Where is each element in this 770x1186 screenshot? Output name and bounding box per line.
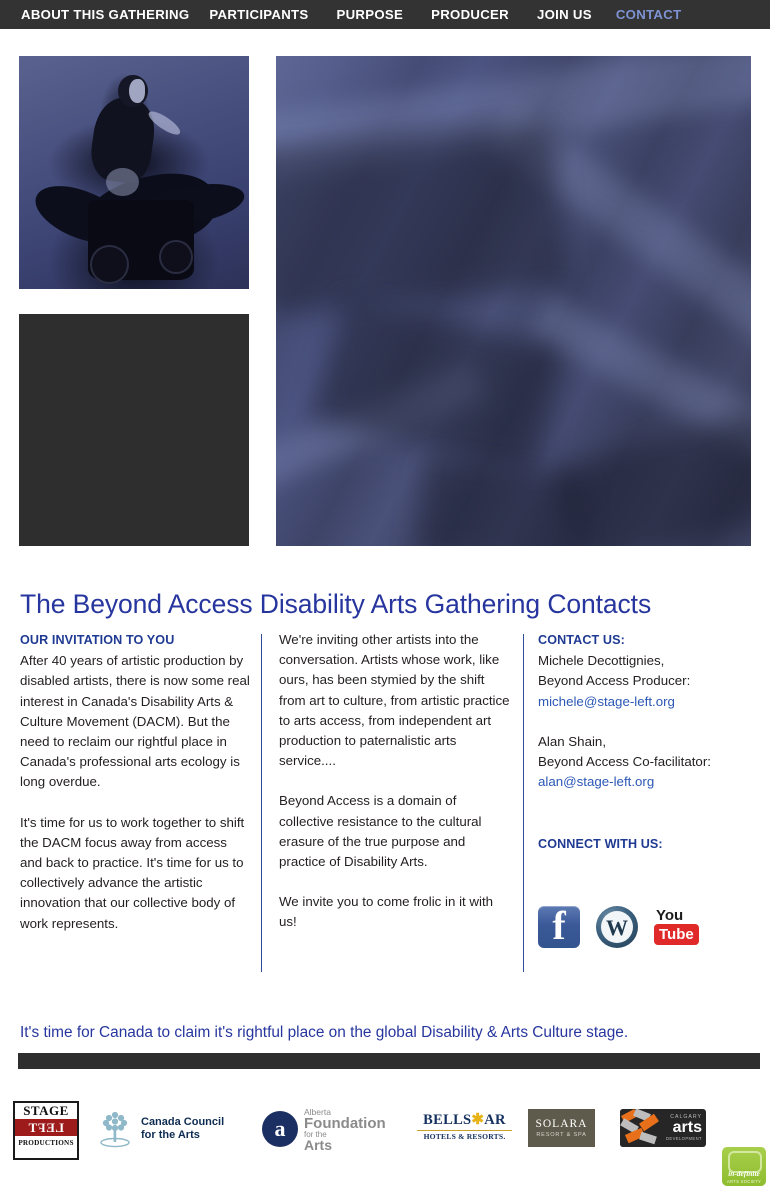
- dancer-photo: [19, 56, 249, 289]
- inviting-paragraph-1: We're inviting other artists into the co…: [279, 630, 514, 771]
- social-icons-row: You Tube: [538, 906, 704, 948]
- canada-council-for-the-arts-logo[interactable]: Canada Council for the Arts: [96, 1108, 246, 1150]
- connect-with-us-heading: CONNECT WITH US:: [538, 834, 763, 854]
- paragraph-spacer: [279, 872, 514, 892]
- bellstar-logo-name: BELLS✱AR: [417, 1110, 512, 1129]
- afa-line-4: Arts: [304, 1140, 386, 1151]
- bellstar-name-part-2: AR: [484, 1112, 506, 1128]
- youtube-icon-you-text: You: [656, 909, 683, 923]
- contact-2-name: Alan Shain,: [538, 732, 763, 752]
- dancer-face-highlight: [129, 79, 145, 102]
- fabric-shadow: [276, 118, 569, 316]
- solara-logo-name: SOLARA: [535, 1118, 587, 1130]
- page-title: The Beyond Access Disability Arts Gather…: [20, 589, 651, 620]
- canada-council-line-1: Canada Council: [141, 1116, 224, 1129]
- nav-item-producer[interactable]: PRODUCER: [431, 7, 509, 22]
- stage-left-productions-logo[interactable]: STAGE LEFT PRODUCTIONS: [13, 1101, 79, 1160]
- afa-logo-text: Alberta Foundation for the Arts: [304, 1107, 386, 1151]
- wordpress-icon[interactable]: [596, 906, 638, 948]
- canada-council-logo-text: Canada Council for the Arts: [141, 1116, 224, 1142]
- column-divider: [523, 634, 524, 972]
- invitation-paragraph-2: It's time for us to work together to shi…: [20, 813, 252, 934]
- column-heading-contact-us: CONTACT US:: [538, 630, 763, 650]
- hero-image-area: [0, 29, 770, 559]
- nav-item-contact[interactable]: CONTACT: [616, 7, 682, 22]
- afa-line-2: Foundation: [304, 1118, 386, 1129]
- nav-items-container: ABOUT THIS GATHERING PARTICIPANTS PURPOS…: [0, 7, 681, 22]
- column-inviting-artists: We're inviting other artists into the co…: [279, 630, 514, 933]
- youtube-icon-tube-text: Tube: [654, 924, 699, 945]
- solara-resort-spa-logo[interactable]: SOLARA RESORT & SPA: [528, 1109, 595, 1147]
- column-divider: [261, 634, 262, 972]
- dancer-highlight: [106, 168, 138, 196]
- indefinite-line-1: in-definite: [722, 1169, 766, 1178]
- bellstar-name-part-1: BELLS: [423, 1112, 471, 1128]
- indefinite-arts-society-logo[interactable]: in-definite ARTS SOCIETY: [722, 1147, 766, 1186]
- pattern-stripe: [639, 1132, 657, 1145]
- column-contact: CONTACT US: Michele Decottignies, Beyond…: [538, 630, 763, 855]
- dark-placeholder-block: [19, 314, 249, 546]
- facebook-icon[interactable]: [538, 906, 580, 948]
- paragraph-spacer: [538, 792, 763, 834]
- nav-item-participants[interactable]: PARTICIPANTS: [209, 7, 308, 22]
- inviting-paragraph-3: We invite you to come frolic in it with …: [279, 892, 514, 932]
- wheelchair-wheel-left: [90, 245, 129, 284]
- afa-monogram-icon: [262, 1111, 298, 1147]
- stage-left-logo-line-3: PRODUCTIONS: [15, 1136, 77, 1150]
- calgary-arts-pattern: [620, 1109, 662, 1147]
- column-invitation: OUR INVITATION TO YOU After 40 years of …: [20, 630, 252, 934]
- star-icon: ✱: [471, 1112, 484, 1128]
- nav-item-purpose[interactable]: PURPOSE: [337, 7, 404, 22]
- top-navigation-bar: ABOUT THIS GATHERING PARTICIPANTS PURPOS…: [0, 0, 770, 29]
- paragraph-spacer: [20, 793, 252, 813]
- contact-2-email-link[interactable]: alan@stage-left.org: [538, 774, 654, 789]
- stage-left-logo-line-2: LEFT: [15, 1119, 77, 1136]
- calgary-line-2: arts: [666, 1120, 702, 1136]
- bottom-tagline: It's time for Canada to claim it's right…: [20, 1024, 628, 1042]
- paragraph-spacer: [279, 771, 514, 791]
- contact-1-name: Michele Decottignies,: [538, 651, 763, 671]
- solara-logo-tagline: RESORT & SPA: [536, 1132, 586, 1138]
- alberta-foundation-for-the-arts-logo[interactable]: Alberta Foundation for the Arts: [262, 1108, 397, 1150]
- calgary-arts-logo-text: CALGARY arts DEVELOPMENT: [666, 1114, 702, 1142]
- nav-item-join-us[interactable]: JOIN US: [537, 7, 592, 22]
- footer-logo-strip: STAGE LEFT PRODUCTIONS Canada Council fo…: [0, 1098, 770, 1158]
- bellstar-hotels-resorts-logo[interactable]: BELLS✱AR HOTELS & RESORTS.: [417, 1110, 512, 1148]
- invitation-paragraph-1: After 40 years of artistic production by…: [20, 651, 252, 792]
- bellstar-logo-tagline: HOTELS & RESORTS.: [417, 1130, 512, 1141]
- inviting-paragraph-2: Beyond Access is a domain of collective …: [279, 791, 514, 872]
- contact-1-email-link[interactable]: michele@stage-left.org: [538, 694, 675, 709]
- canada-council-line-2: for the Arts: [141, 1129, 224, 1142]
- contact-1-role: Beyond Access Producer:: [538, 671, 763, 691]
- paragraph-spacer: [538, 712, 763, 732]
- calgary-line-3: DEVELOPMENT: [666, 1136, 702, 1142]
- column-heading-invitation: OUR INVITATION TO YOU: [20, 630, 252, 650]
- fabric-photo: [276, 56, 751, 546]
- bottom-divider-bar: [18, 1053, 760, 1069]
- stage-left-logo-line-1: STAGE: [15, 1103, 77, 1119]
- nav-item-about-this-gathering[interactable]: ABOUT THIS GATHERING: [21, 7, 189, 22]
- indefinite-line-2: ARTS SOCIETY: [722, 1179, 766, 1184]
- contact-2-role: Beyond Access Co-facilitator:: [538, 752, 763, 772]
- tree-icon: [96, 1109, 134, 1149]
- calgary-arts-development-logo[interactable]: CALGARY arts DEVELOPMENT: [620, 1109, 706, 1147]
- youtube-icon[interactable]: You Tube: [654, 906, 704, 948]
